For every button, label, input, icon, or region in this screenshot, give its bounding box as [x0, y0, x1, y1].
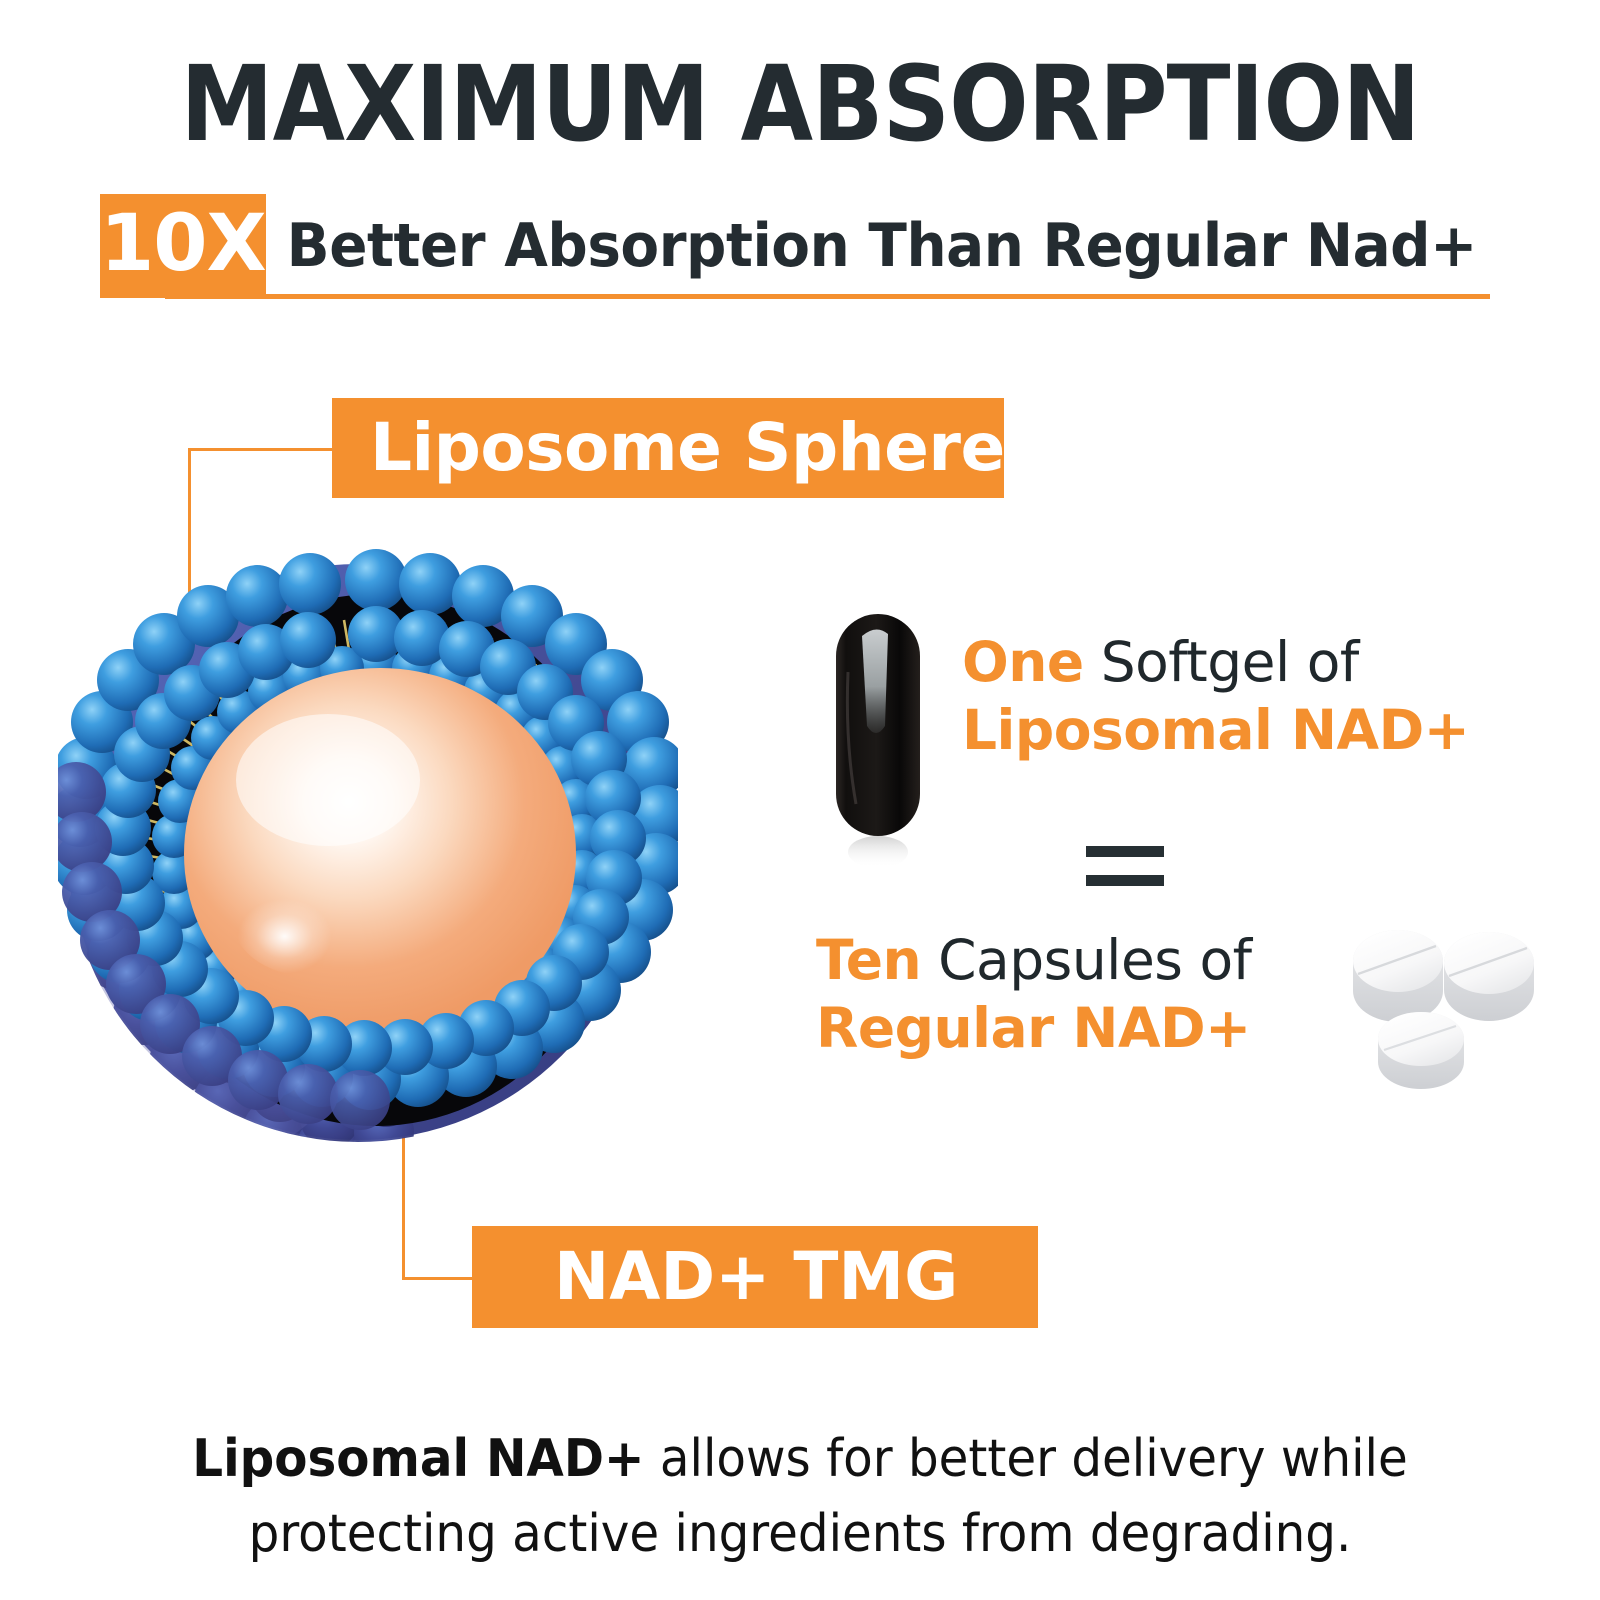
liposome-svg	[58, 542, 678, 1162]
page-title: MAXIMUM ABSORPTION	[80, 52, 1520, 156]
equals-bar-bottom	[1086, 875, 1164, 886]
subheadline-text: Better Absorption Than Regular Nad+	[266, 194, 1477, 298]
tablet-right	[1444, 932, 1534, 1021]
softgel-capsule-image	[832, 612, 924, 872]
equals-sign-icon	[1086, 846, 1164, 886]
tablet-front	[1378, 1012, 1464, 1089]
equation-bottom-line2: Regular NAD+	[816, 994, 1251, 1062]
equation-bottom-text: Ten Capsules of Regular NAD+	[816, 926, 1251, 1062]
equals-gap	[1086, 857, 1164, 875]
leader-line-liposome-horizontal	[188, 448, 334, 451]
equation-top-line2: Liposomal NAD+	[962, 696, 1469, 764]
equation-top-highlight: One	[962, 630, 1084, 694]
leader-line-nadtmg-horizontal	[402, 1277, 474, 1280]
equation-bottom-rest: Capsules of	[921, 928, 1251, 992]
subheadline-row: 10X Better Absorption Than Regular Nad+	[100, 194, 1500, 298]
footer-caption: Liposomal NAD+ allows for better deliver…	[149, 1422, 1451, 1572]
pills-svg	[1306, 908, 1556, 1108]
regular-capsules-image	[1306, 908, 1556, 1108]
callout-label-nad-tmg: NAD+ TMG	[472, 1226, 1038, 1328]
accent-divider	[165, 294, 1490, 299]
badge-10x: 10X	[100, 194, 266, 298]
softgel-svg	[832, 612, 924, 872]
equation-bottom-highlight: Ten	[816, 928, 921, 992]
liposome-diagram	[58, 542, 678, 1162]
equation-top-rest: Softgel of	[1084, 630, 1359, 694]
footer-bold: Liposomal NAD+	[192, 1429, 644, 1489]
callout-label-liposome-sphere: Liposome Sphere	[332, 398, 1004, 498]
equals-bar-top	[1086, 846, 1164, 857]
equation-top-text: One Softgel of Liposomal NAD+	[962, 628, 1469, 764]
tablet-left	[1353, 930, 1443, 1022]
